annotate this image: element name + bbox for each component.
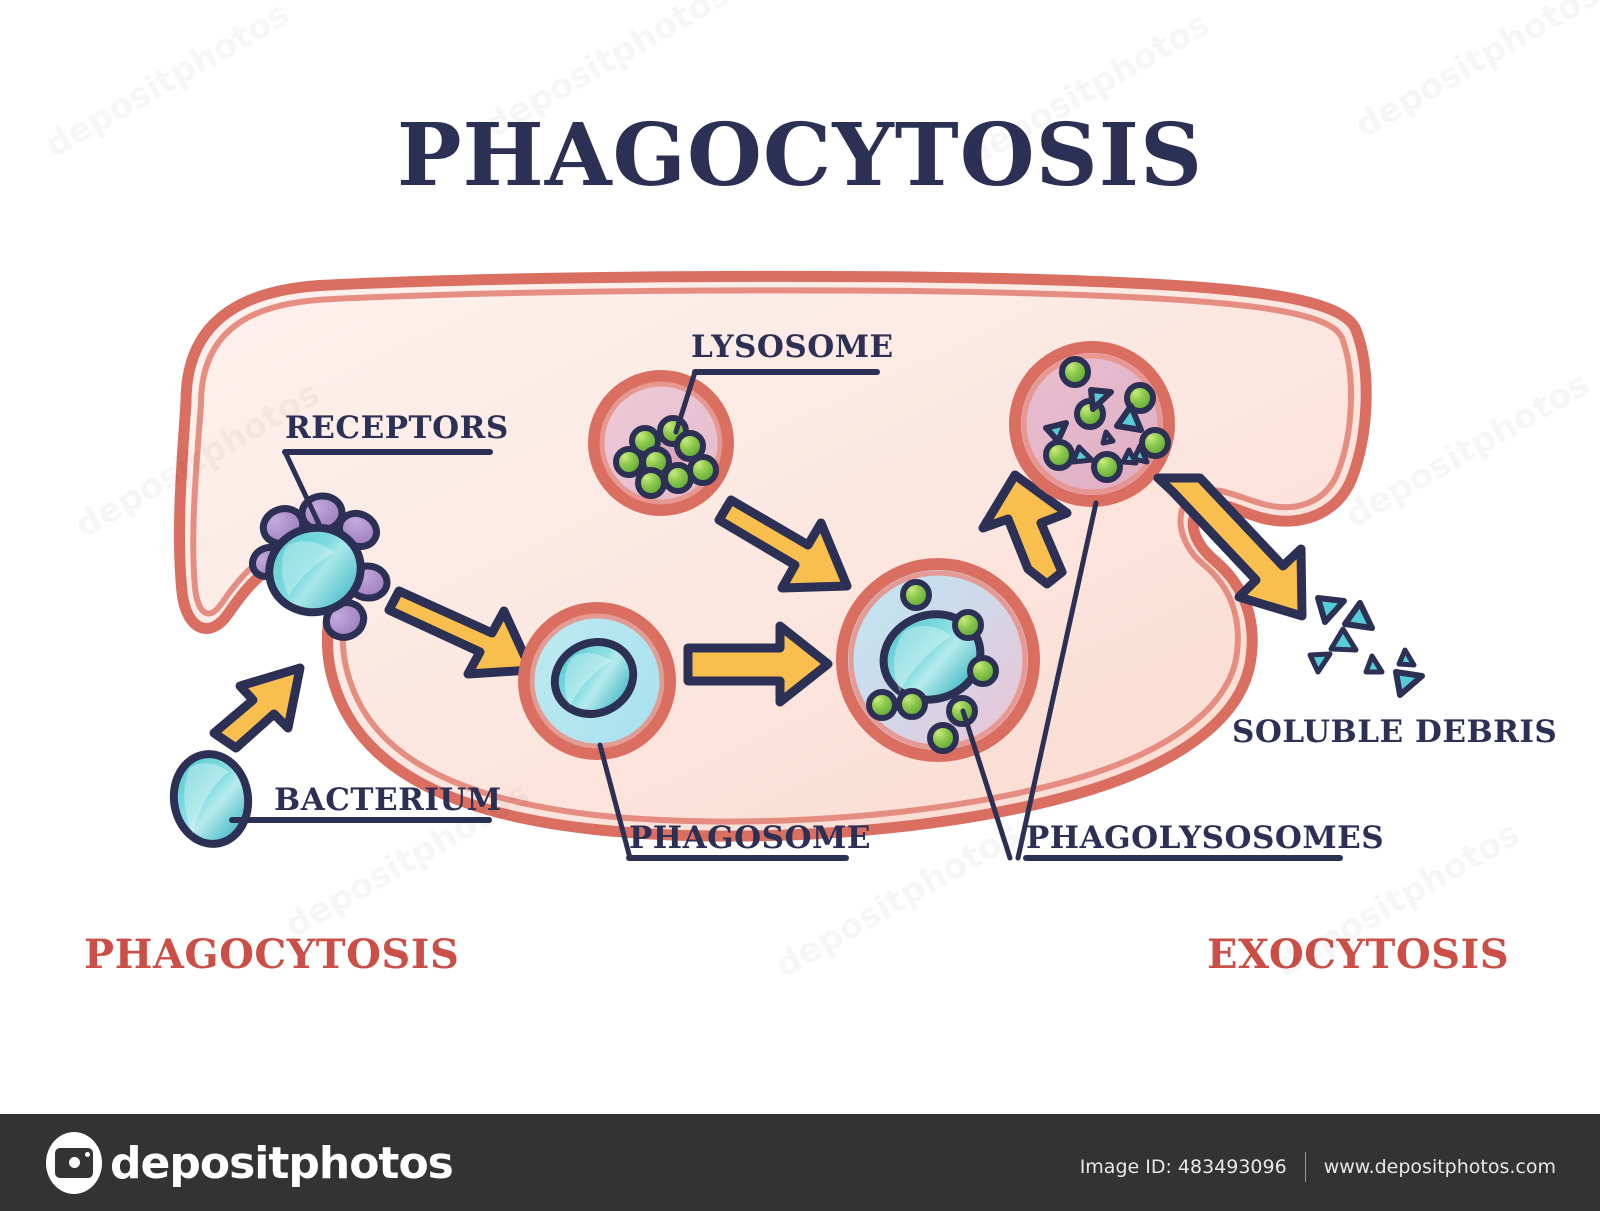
label-phagolysosomes: PHAGOLYSOSOMES — [1026, 823, 1384, 854]
label-receptors: RECEPTORS — [285, 413, 509, 444]
process-label-exocytosis: EXOCYTOSIS — [1207, 935, 1509, 975]
footer-divider — [1305, 1152, 1306, 1182]
label-lysosome: LYSOSOME — [691, 332, 894, 363]
phagolysosome-digested — [1015, 347, 1169, 501]
depositphotos-logo: depositphotos — [46, 1132, 453, 1194]
phagosome — [524, 608, 670, 754]
label-phagosome: PHAGOSOME — [629, 823, 871, 854]
image-id-text: Image ID: 483493096 — [1080, 1156, 1287, 1178]
label-bacterium: BACTERIUM — [274, 785, 502, 816]
lysosome — [594, 376, 728, 510]
footer-wordmark: depositphotos — [110, 1138, 453, 1189]
arrow-phagocytosis-uptake — [214, 668, 300, 748]
footer-bar: depositphotos Image ID: 483493096 www.de… — [0, 1114, 1600, 1211]
phagolysosome-active — [842, 564, 1034, 756]
page-title: PHAGOCYTOSIS — [0, 113, 1600, 199]
footer-meta: Image ID: 483493096 www.depositphotos.co… — [1080, 1152, 1556, 1182]
bacterium-free — [168, 749, 254, 848]
footer-url[interactable]: www.depositphotos.com — [1324, 1156, 1556, 1178]
camera-icon — [46, 1132, 102, 1194]
process-label-phagocytosis: PHAGOCYTOSIS — [84, 935, 459, 975]
label-soluble-debris: SOLUBLE DEBRIS — [1232, 717, 1557, 748]
